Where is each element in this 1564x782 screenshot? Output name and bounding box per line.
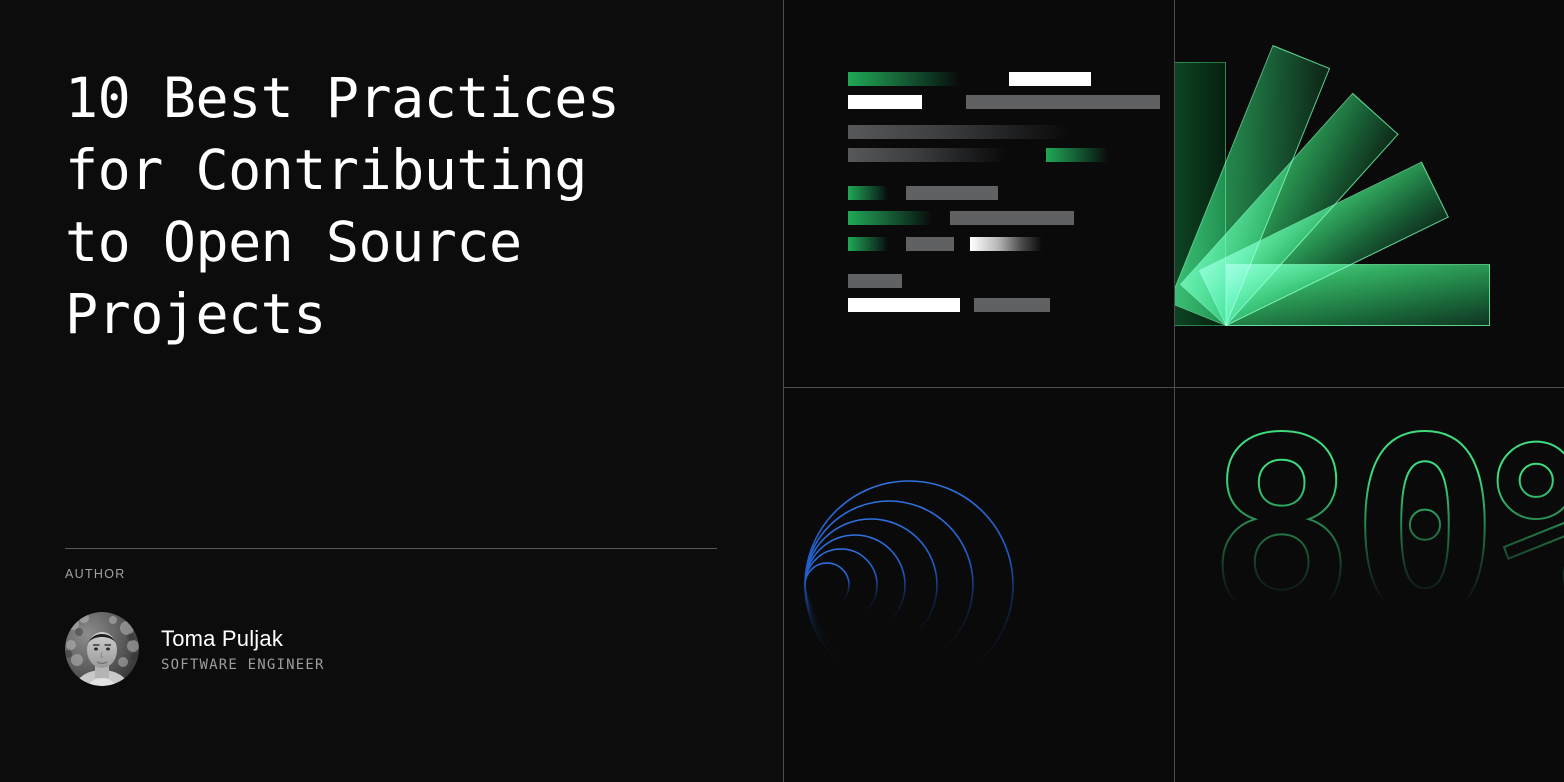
code-token-bar [848, 125, 1068, 139]
code-token-bar [848, 95, 922, 109]
author-section-label: AUTHOR [65, 567, 717, 581]
page-title: 10 Best Practices for Contributing to Op… [65, 62, 745, 350]
panel-concentric-rings [784, 388, 1174, 782]
author-block: AUTHOR [65, 548, 717, 686]
panel-code-block [784, 0, 1174, 387]
panel-bar-fan [1175, 0, 1564, 387]
ring [805, 549, 877, 621]
code-token-bar [848, 298, 960, 312]
code-token-bar [848, 211, 932, 225]
author-meta: Toma Puljak SOFTWARE ENGINEER [161, 626, 325, 673]
rings-graphic [784, 388, 1174, 782]
code-token-bar [848, 72, 960, 86]
panel-stat: 80% [1175, 388, 1564, 782]
code-token-bar [848, 274, 902, 288]
fan-blade [1226, 264, 1490, 326]
illustration-grid: 80% [783, 0, 1564, 782]
avatar-photo [65, 612, 139, 686]
hero-card: 10 Best Practices for Contributing to Op… [0, 0, 1564, 782]
code-token-bar [1046, 148, 1108, 162]
code-token-bar [974, 298, 1050, 312]
author-row[interactable]: Toma Puljak SOFTWARE ENGINEER [65, 612, 717, 686]
code-token-bar [966, 95, 1160, 109]
ring [805, 519, 937, 651]
ring [805, 535, 905, 635]
avatar [65, 612, 139, 686]
fan-blades [1175, 0, 1564, 387]
code-token-bar [970, 237, 1042, 251]
code-token-bar [950, 211, 1074, 225]
author-name: Toma Puljak [161, 626, 325, 652]
code-token-bar [848, 148, 1006, 162]
code-token-bar [848, 237, 888, 251]
author-role: SOFTWARE ENGINEER [161, 657, 325, 673]
code-token-bar [1009, 72, 1091, 86]
code-token-bar [906, 237, 954, 251]
author-divider [65, 548, 717, 549]
title-column: 10 Best Practices for Contributing to Op… [0, 0, 783, 782]
code-token-bar [848, 186, 888, 200]
ring [805, 481, 1013, 689]
ring [805, 563, 849, 607]
stat-value: 80% [1207, 406, 1564, 654]
ring [805, 501, 973, 669]
code-token-bar [906, 186, 998, 200]
